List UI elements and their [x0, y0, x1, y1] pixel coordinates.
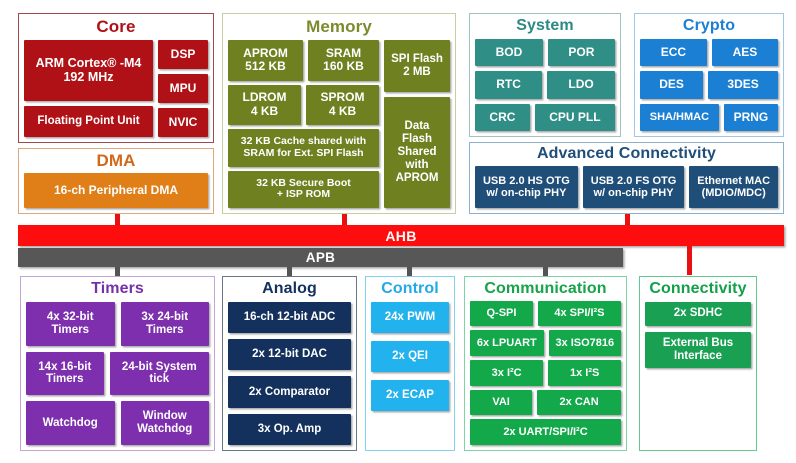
group-title-advanced-connectivity: Advanced Connectivity [470, 143, 783, 166]
block-ethernet-mac: Ethernet MAC (MDIO/MDC) [689, 166, 778, 208]
group-system: System BOD POR RTC LDO CRC CPU PLL [469, 13, 621, 137]
block-lpuart: 6x LPUART [470, 330, 544, 356]
group-dma: DMA 16-ch Peripheral DMA [18, 148, 214, 214]
block-uart-spi-i2c: 2x UART/SPI/I²C [470, 419, 621, 445]
block-diagram: Core ARM Cortex® -M4 192 MHz Floating Po… [0, 0, 796, 463]
block-i2c: 3x I²C [470, 360, 543, 386]
block-watchdog: Watchdog [26, 401, 115, 445]
connector-apb-to-timers [115, 267, 120, 276]
block-sprom: SPROM 4 KB [306, 85, 379, 126]
group-title-memory: Memory [223, 14, 455, 40]
group-crypto: Crypto ECC AES DES 3DES SHA/HMAC PRNG [634, 13, 784, 137]
block-rtc: RTC [475, 71, 542, 98]
block-vai: VAI [470, 390, 532, 416]
block-por: POR [548, 39, 615, 66]
block-window-watchdog: Window Watchdog [121, 401, 210, 445]
connector-apb-to-communication [543, 267, 548, 276]
group-title-analog: Analog [223, 277, 356, 302]
block-des: DES [640, 71, 703, 98]
block-sha-hmac: SHA/HMAC [640, 104, 719, 131]
block-qspi: Q-SPI [470, 301, 533, 327]
block-qei: 2x QEI [371, 341, 449, 372]
group-title-timers: Timers [21, 277, 214, 302]
block-cache-shared-sram: 32 KB Cache shared with SRAM for Ext. SP… [228, 129, 379, 166]
block-sdhc: 2x SDHC [645, 302, 751, 326]
block-iso7816: 3x ISO7816 [549, 330, 621, 356]
group-title-crypto: Crypto [635, 14, 783, 39]
group-advanced-connectivity: Advanced Connectivity USB 2.0 HS OTG w/ … [469, 142, 784, 214]
block-floating-point-unit: Floating Point Unit [24, 106, 153, 137]
block-arm-cortex-m4: ARM Cortex® -M4 192 MHz [24, 40, 153, 101]
block-op-amp: 3x Op. Amp [228, 414, 351, 445]
block-bod: BOD [475, 39, 543, 66]
block-usb-fs-otg: USB 2.0 FS OTG w/ on-chip PHY [583, 166, 685, 208]
block-ecap: 2x ECAP [371, 380, 449, 411]
block-secure-boot-isp-rom: 32 KB Secure Boot + ISP ROM [228, 171, 379, 208]
block-3x-24bit-timers: 3x 24-bit Timers [121, 302, 210, 346]
group-title-core: Core [19, 14, 213, 40]
group-control: Control 24x PWM 2x QEI 2x ECAP [365, 276, 455, 451]
block-pwm: 24x PWM [371, 302, 449, 333]
block-peripheral-dma: 16-ch Peripheral DMA [24, 173, 208, 208]
block-comparator: 2x Comparator [228, 376, 351, 407]
block-24bit-system-tick: 24-bit System tick [110, 352, 209, 396]
group-analog: Analog 16-ch 12-bit ADC 2x 12-bit DAC 2x… [222, 276, 357, 451]
bus-ahb: AHB [18, 225, 784, 246]
block-ldo: LDO [547, 71, 615, 98]
block-3des: 3DES [708, 71, 778, 98]
group-connectivity: Connectivity 2x SDHC External Bus Interf… [639, 276, 757, 451]
block-cpu-pll: CPU PLL [535, 104, 615, 131]
bus-apb: APB [18, 248, 623, 267]
block-dsp: DSP [158, 40, 208, 69]
group-timers: Timers 4x 32-bit Timers 3x 24-bit Timers… [20, 276, 215, 451]
block-14x-16bit-timers: 14x 16-bit Timers [26, 352, 104, 396]
block-ecc: ECC [640, 39, 707, 66]
block-usb-hs-otg: USB 2.0 HS OTG w/ on-chip PHY [475, 166, 578, 208]
block-sram: SRAM 160 KB [308, 40, 379, 81]
block-ldrom: LDROM 4 KB [228, 85, 301, 126]
connector-ahb-to-connectivity [687, 246, 692, 275]
connector-advconn-to-ahb [625, 214, 630, 225]
block-prng: PRNG [724, 104, 778, 131]
block-aes: AES [712, 39, 778, 66]
block-spi-flash: SPI Flash 2 MB [384, 40, 450, 92]
block-adc: 16-ch 12-bit ADC [228, 302, 351, 333]
block-can: 2x CAN [537, 390, 621, 416]
block-crc: CRC [475, 104, 530, 131]
group-title-communication: Communication [465, 277, 626, 301]
group-title-control: Control [366, 277, 454, 302]
block-4x-32bit-timers: 4x 32-bit Timers [26, 302, 115, 346]
connector-dma-to-ahb [115, 214, 120, 225]
block-mpu: MPU [158, 74, 208, 103]
connector-apb-to-analog [287, 267, 292, 276]
group-core: Core ARM Cortex® -M4 192 MHz Floating Po… [18, 13, 214, 143]
block-data-flash-shared: Data Flash Shared with APROM [384, 97, 450, 208]
block-aprom: APROM 512 KB [228, 40, 303, 81]
group-memory: Memory APROM 512 KB SRAM 160 KB LDROM 4 … [222, 13, 456, 214]
block-dac: 2x 12-bit DAC [228, 339, 351, 370]
block-external-bus-interface: External Bus Interface [645, 332, 751, 368]
group-title-system: System [470, 14, 620, 39]
group-title-connectivity: Connectivity [640, 277, 756, 302]
connector-memory-to-ahb [342, 214, 347, 225]
group-communication: Communication Q-SPI 4x SPI/I²S 6x LPUART… [464, 276, 627, 451]
connector-apb-to-control [407, 267, 412, 276]
group-title-dma: DMA [19, 149, 213, 173]
block-spi-i2s: 4x SPI/I²S [538, 301, 621, 327]
block-i2s: 1x I²S [548, 360, 621, 386]
block-nvic: NVIC [158, 108, 208, 137]
